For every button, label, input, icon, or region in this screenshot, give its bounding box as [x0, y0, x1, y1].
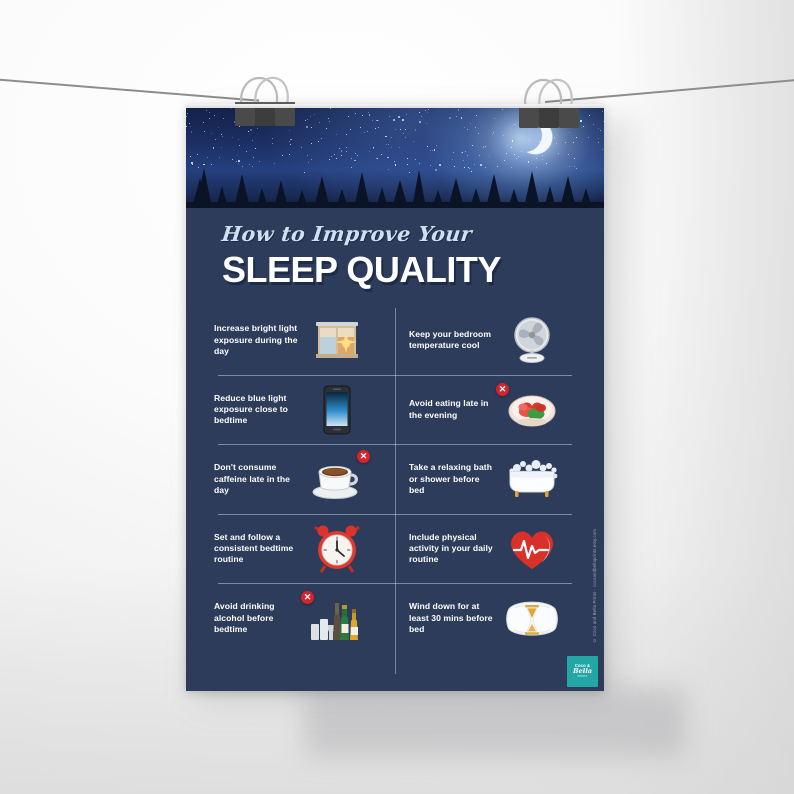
- tip-item: Wind down for at least 30 mins before be…: [395, 584, 576, 653]
- tip-text: Increase bright light exposure during th…: [214, 323, 302, 357]
- prohibited-badge: ✕: [357, 450, 370, 463]
- tip-text: Keep your bedroom temperature cool: [409, 329, 497, 352]
- tip-row: Increase bright light exposure during th…: [214, 306, 576, 375]
- pillow-with-hourglass-icon: [501, 592, 563, 644]
- title-main-line: SLEEP QUALITY: [222, 252, 562, 288]
- tip-item: Keep your bedroom temperature cool: [395, 306, 576, 375]
- tip-item: Set and follow a consistent bedtime rout…: [214, 515, 395, 584]
- tip-item: Include physical activity in your daily …: [395, 515, 576, 584]
- tip-item: Avoid drinking alcohol before bedtime ✕: [214, 584, 395, 653]
- tip-row: Reduce blue light exposure close to bedt…: [214, 376, 576, 445]
- brand-badge-line3: PRINTS: [578, 676, 588, 679]
- bowl-of-food-icon: ✕: [501, 384, 563, 436]
- poster-top-edge: [186, 104, 604, 108]
- alarm-clock-icon: [306, 523, 368, 575]
- tips-grid: Increase bright light exposure during th…: [214, 306, 576, 653]
- prohibited-badge: ✕: [496, 383, 509, 396]
- wall-shading-right: [614, 0, 794, 794]
- tip-item: Don't consume caffeine late in the day ✕: [214, 445, 395, 514]
- poster: How to Improve Your SLEEP QUALITY Increa…: [186, 104, 604, 691]
- bathtub-icon: [501, 453, 563, 505]
- title-script-line: How to Improve Your: [221, 222, 564, 246]
- tip-row: Set and follow a consistent bedtime rout…: [214, 515, 576, 584]
- tip-item: Increase bright light exposure during th…: [214, 306, 395, 375]
- tip-text: Take a relaxing bath or shower before be…: [409, 462, 497, 496]
- brand-badge-line2: Bella: [573, 668, 592, 675]
- tip-text: Wind down for at least 30 mins before be…: [409, 601, 497, 635]
- heart-with-pulse-icon: [501, 523, 563, 575]
- tip-text: Reduce blue light exposure close to bedt…: [214, 393, 302, 427]
- window-with-sunlight-icon: [306, 314, 368, 366]
- poster-scene: How to Improve Your SLEEP QUALITY Increa…: [0, 0, 794, 794]
- copyright-watermark: © Coco and Bella Prints · cocoandbellapr…: [592, 529, 597, 643]
- alcohol-bottles-icon: ✕: [306, 592, 368, 644]
- coffee-cup-icon: ✕: [306, 453, 368, 505]
- tip-row: Avoid drinking alcohol before bedtime ✕W…: [214, 584, 576, 653]
- binder-clip-left[interactable]: [219, 70, 315, 132]
- smartphone-icon: [306, 384, 368, 436]
- poster-title-block: How to Improve Your SLEEP QUALITY: [222, 222, 562, 288]
- tip-item: Take a relaxing bath or shower before be…: [395, 445, 576, 514]
- tip-text: Avoid eating late in the evening: [409, 398, 497, 421]
- tip-item: Avoid eating late in the evening ✕: [395, 376, 576, 445]
- tip-item: Reduce blue light exposure close to bedt…: [214, 376, 395, 445]
- tip-text: Include physical activity in your daily …: [409, 532, 497, 566]
- brand-badge: Coco & Bella PRINTS: [567, 656, 598, 687]
- pine-treeline: [186, 162, 604, 208]
- tip-text: Set and follow a consistent bedtime rout…: [214, 532, 302, 566]
- electric-fan-icon: [501, 314, 563, 366]
- tip-row: Don't consume caffeine late in the day ✕…: [214, 445, 576, 514]
- binder-clip-right[interactable]: [503, 72, 599, 134]
- poster-floor-shadow: [305, 688, 685, 756]
- tip-text: Avoid drinking alcohol before bedtime: [214, 601, 302, 635]
- tip-text: Don't consume caffeine late in the day: [214, 462, 302, 496]
